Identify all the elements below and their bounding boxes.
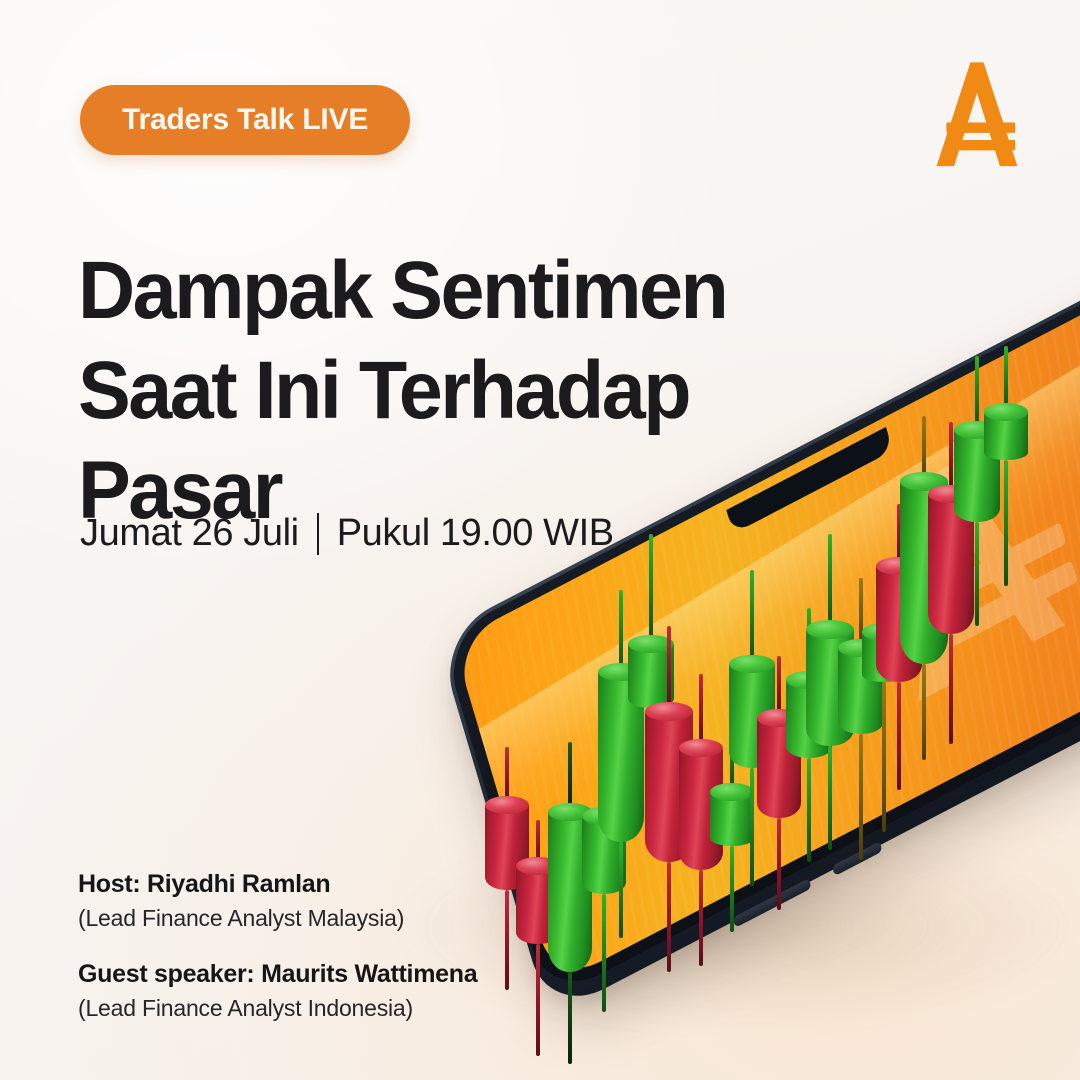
candle-upper-wick — [975, 356, 979, 430]
candle-body-side — [876, 566, 922, 682]
candle-body-cap — [757, 709, 801, 727]
credit-guest-role: (Lead Finance Analyst Indonesia) — [78, 995, 477, 1022]
candle-body — [710, 792, 754, 846]
candle-lower-wick — [730, 846, 734, 932]
candle-body-cap — [516, 857, 560, 875]
candle-body — [548, 812, 592, 972]
candle-body-side — [582, 816, 626, 894]
candle-lower-wick — [777, 818, 781, 910]
candle-upper-wick — [949, 422, 953, 494]
candle-lower-wick — [1004, 460, 1008, 586]
candle-upper-wick — [897, 504, 901, 566]
candle-upper-wick — [1004, 346, 1008, 412]
candle-body — [928, 494, 974, 634]
poster-canvas: Traders Talk LIVE Dampak Sentimen Saat I… — [0, 0, 1080, 1080]
candle-body — [628, 644, 674, 708]
candle-body-cap — [598, 663, 644, 681]
credit-host-role: (Lead Finance Analyst Malaysia) — [78, 905, 477, 932]
candle-body-side — [786, 680, 832, 758]
candle-body-cap — [710, 783, 754, 801]
candle-body-cap — [838, 639, 884, 657]
candle-upper-wick — [699, 674, 703, 748]
candlestick-5 — [598, 672, 644, 842]
candle-body-side — [806, 630, 854, 746]
event-time: Pukul 19.00 WIB — [337, 512, 614, 555]
candle-body-side — [984, 412, 1028, 460]
candlestick-19 — [954, 430, 1000, 522]
credit-guest: Guest speaker: Maurits Wattimena (Lead F… — [78, 960, 477, 1022]
candle-body — [679, 748, 723, 870]
candle-body — [900, 482, 948, 664]
candle-upper-wick — [505, 747, 509, 805]
candlestick-3 — [548, 812, 592, 972]
candle-lower-wick — [536, 944, 540, 1056]
candle-body-cap — [900, 472, 948, 491]
candle-lower-wick — [649, 708, 653, 782]
candle-body — [786, 680, 832, 758]
candle-lower-wick — [975, 522, 979, 626]
candlestick-8 — [679, 748, 723, 870]
candle-body-cap — [679, 739, 723, 757]
candle-body — [598, 672, 644, 842]
candlestick-12 — [786, 680, 832, 758]
candle-upper-wick — [649, 534, 653, 644]
candle-body-cap — [548, 803, 592, 821]
candle-body-side — [900, 482, 948, 664]
candlestick-17 — [900, 482, 948, 664]
candle-lower-wick — [602, 894, 606, 1012]
candle-body-cap — [582, 807, 626, 825]
candle-lower-wick — [750, 768, 754, 886]
candle-upper-wick — [750, 570, 754, 664]
candle-body-cap — [729, 655, 775, 673]
candlestick-6 — [628, 644, 674, 708]
candle-body-side — [679, 748, 723, 870]
candle-lower-wick — [505, 890, 509, 990]
candle-body-cap — [806, 620, 854, 639]
candlestick-1 — [485, 805, 529, 890]
candle-lower-wick — [699, 870, 703, 966]
candle-lower-wick — [922, 664, 926, 760]
candle-body-side — [954, 430, 1000, 522]
candle-body-cap — [645, 702, 693, 721]
candle-body — [984, 412, 1028, 460]
candle-body-cap — [984, 403, 1028, 421]
phone-power-button — [832, 841, 883, 876]
candle-body-side — [548, 812, 592, 972]
candle-body-side — [516, 866, 560, 944]
phone-drop-shadow — [392, 822, 1080, 1032]
credit-host-name: Host: Riyadhi Ramlan — [78, 870, 477, 899]
candle-body-cap — [876, 557, 922, 575]
candle-body — [485, 805, 529, 890]
candle-upper-wick — [568, 742, 572, 812]
candle-lower-wick — [828, 746, 832, 850]
candle-upper-wick — [667, 626, 671, 712]
candle-body-side — [928, 494, 974, 634]
candlestick-16 — [876, 566, 922, 682]
logo-a-mark-icon — [922, 58, 1032, 170]
candle-body-side — [628, 644, 674, 708]
candle-body — [838, 648, 884, 734]
phone-volume-button — [732, 878, 811, 928]
candle-body-cap — [786, 671, 832, 689]
candle-lower-wick — [949, 634, 953, 744]
candle-body-side — [485, 805, 529, 890]
candle-body-side — [645, 712, 693, 862]
candlestick-13 — [806, 630, 854, 746]
candlestick-10 — [729, 664, 775, 768]
candle-upper-wick — [922, 416, 926, 482]
candle-lower-wick — [897, 682, 901, 790]
candle-upper-wick — [536, 820, 540, 866]
candle-body-cap — [928, 485, 974, 503]
candlestick-15 — [862, 632, 906, 682]
candle-body-cap — [485, 796, 529, 814]
candle-body-cap — [628, 635, 674, 653]
candle-body — [582, 816, 626, 894]
event-datetime: Jumat 26 Juli Pukul 19.00 WIB — [80, 512, 614, 555]
live-badge-label: Traders Talk LIVE — [122, 103, 368, 137]
candle-upper-wick — [859, 578, 863, 648]
candle-lower-wick — [859, 734, 863, 860]
credit-host: Host: Riyadhi Ramlan (Lead Finance Analy… — [78, 870, 477, 932]
candle-body — [516, 866, 560, 944]
candle-body-side — [710, 792, 754, 846]
candle-body-side — [757, 718, 801, 818]
candle-body — [806, 630, 854, 746]
candle-body-side — [838, 648, 884, 734]
candlestick-11 — [757, 718, 801, 818]
page-title: Dampak Sentimen Saat Ini Terhadap Pasar — [78, 241, 811, 541]
candle-lower-wick — [667, 862, 671, 972]
candle-lower-wick — [807, 758, 811, 862]
candlestick-2 — [516, 866, 560, 944]
candlestick-9 — [710, 792, 754, 846]
candle-body — [954, 430, 1000, 522]
event-date: Jumat 26 Juli — [80, 512, 299, 555]
candle-lower-wick — [882, 682, 886, 832]
candlestick-20 — [984, 412, 1028, 460]
datetime-divider — [317, 513, 319, 555]
candle-body-cap — [862, 623, 906, 641]
candlestick-7 — [645, 712, 693, 862]
candle-body-side — [729, 664, 775, 768]
candle-body — [862, 632, 906, 682]
candle-body-side — [598, 672, 644, 842]
candle-upper-wick — [602, 716, 606, 816]
candle-body-side — [862, 632, 906, 682]
candlestick-14 — [838, 648, 884, 734]
candle-upper-wick — [777, 656, 781, 718]
candle-body — [876, 566, 922, 682]
candle-body — [645, 712, 693, 862]
candlestick-18 — [928, 494, 974, 634]
candle-upper-wick — [730, 696, 734, 792]
candle-body-cap — [954, 421, 1000, 439]
candle-lower-wick — [619, 842, 623, 938]
candlestick-4 — [582, 816, 626, 894]
candle-body — [729, 664, 775, 768]
candle-upper-wick — [882, 570, 886, 632]
candle-upper-wick — [619, 590, 623, 672]
credit-guest-name: Guest speaker: Maurits Wattimena — [78, 960, 477, 989]
speaker-credits: Host: Riyadhi Ramlan (Lead Finance Analy… — [78, 870, 477, 1022]
candle-upper-wick — [828, 534, 832, 630]
candle-body — [757, 718, 801, 818]
live-badge[interactable]: Traders Talk LIVE — [80, 85, 410, 155]
candle-upper-wick — [807, 608, 811, 680]
candle-lower-wick — [568, 972, 572, 1064]
